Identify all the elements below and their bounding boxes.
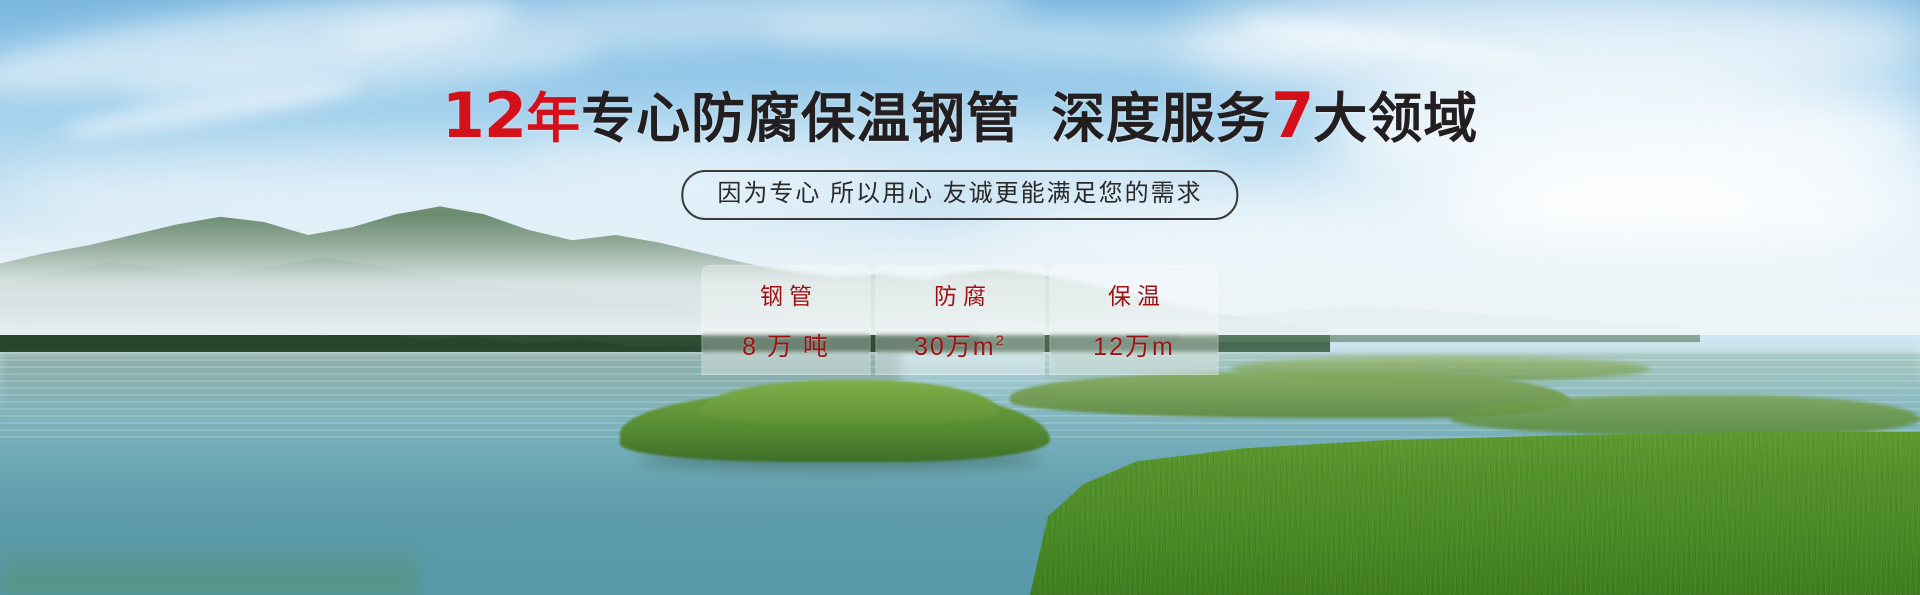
stat-value: 30万m2 [914,327,1006,363]
headline-fields-number: 7 [1271,79,1313,152]
page-title: 12年专心防腐保温钢管深度服务7大领域 [0,84,1920,151]
headline-main: 专心防腐保温钢管 [581,87,1021,150]
subtitle-pill: 因为专心 所以用心 友诚更能满足您的需求 [681,170,1238,220]
stat-card-anticorrosion[interactable]: 防腐 30万m2 [876,265,1045,375]
stat-value-exponent: 2 [996,333,1006,350]
headline-years-number: 12 [442,79,526,152]
hero-banner: 12年专心防腐保温钢管深度服务7大领域 因为专心 所以用心 友诚更能满足您的需求… [0,0,1920,595]
stat-value-text: 30万m [914,333,996,361]
subtitle-text: 因为专心 所以用心 友诚更能满足您的需求 [717,180,1202,207]
stat-card-insulation[interactable]: 保温 12万m [1050,265,1219,375]
stat-value: 12万m [1093,327,1175,363]
stat-label: 防腐 [928,277,992,311]
headline-fields-suffix: 大领域 [1313,87,1478,150]
stat-value-text: 12万m [1093,333,1175,361]
stat-label: 钢管 [754,277,818,311]
marsh-strip-near [1450,395,1920,435]
headline-service: 深度服务 [1051,87,1271,150]
stat-value: 8 万 吨 [742,327,830,363]
headline-years-unit: 年 [526,87,581,150]
stat-label: 保温 [1102,277,1166,311]
stats-group: 钢管 8 万 吨 防腐 30万m2 保温 12万m [702,265,1219,375]
shoreline-left [0,540,420,595]
stat-value-text: 8 万 吨 [742,333,830,361]
stat-card-steel-pipe[interactable]: 钢管 8 万 吨 [702,265,871,375]
